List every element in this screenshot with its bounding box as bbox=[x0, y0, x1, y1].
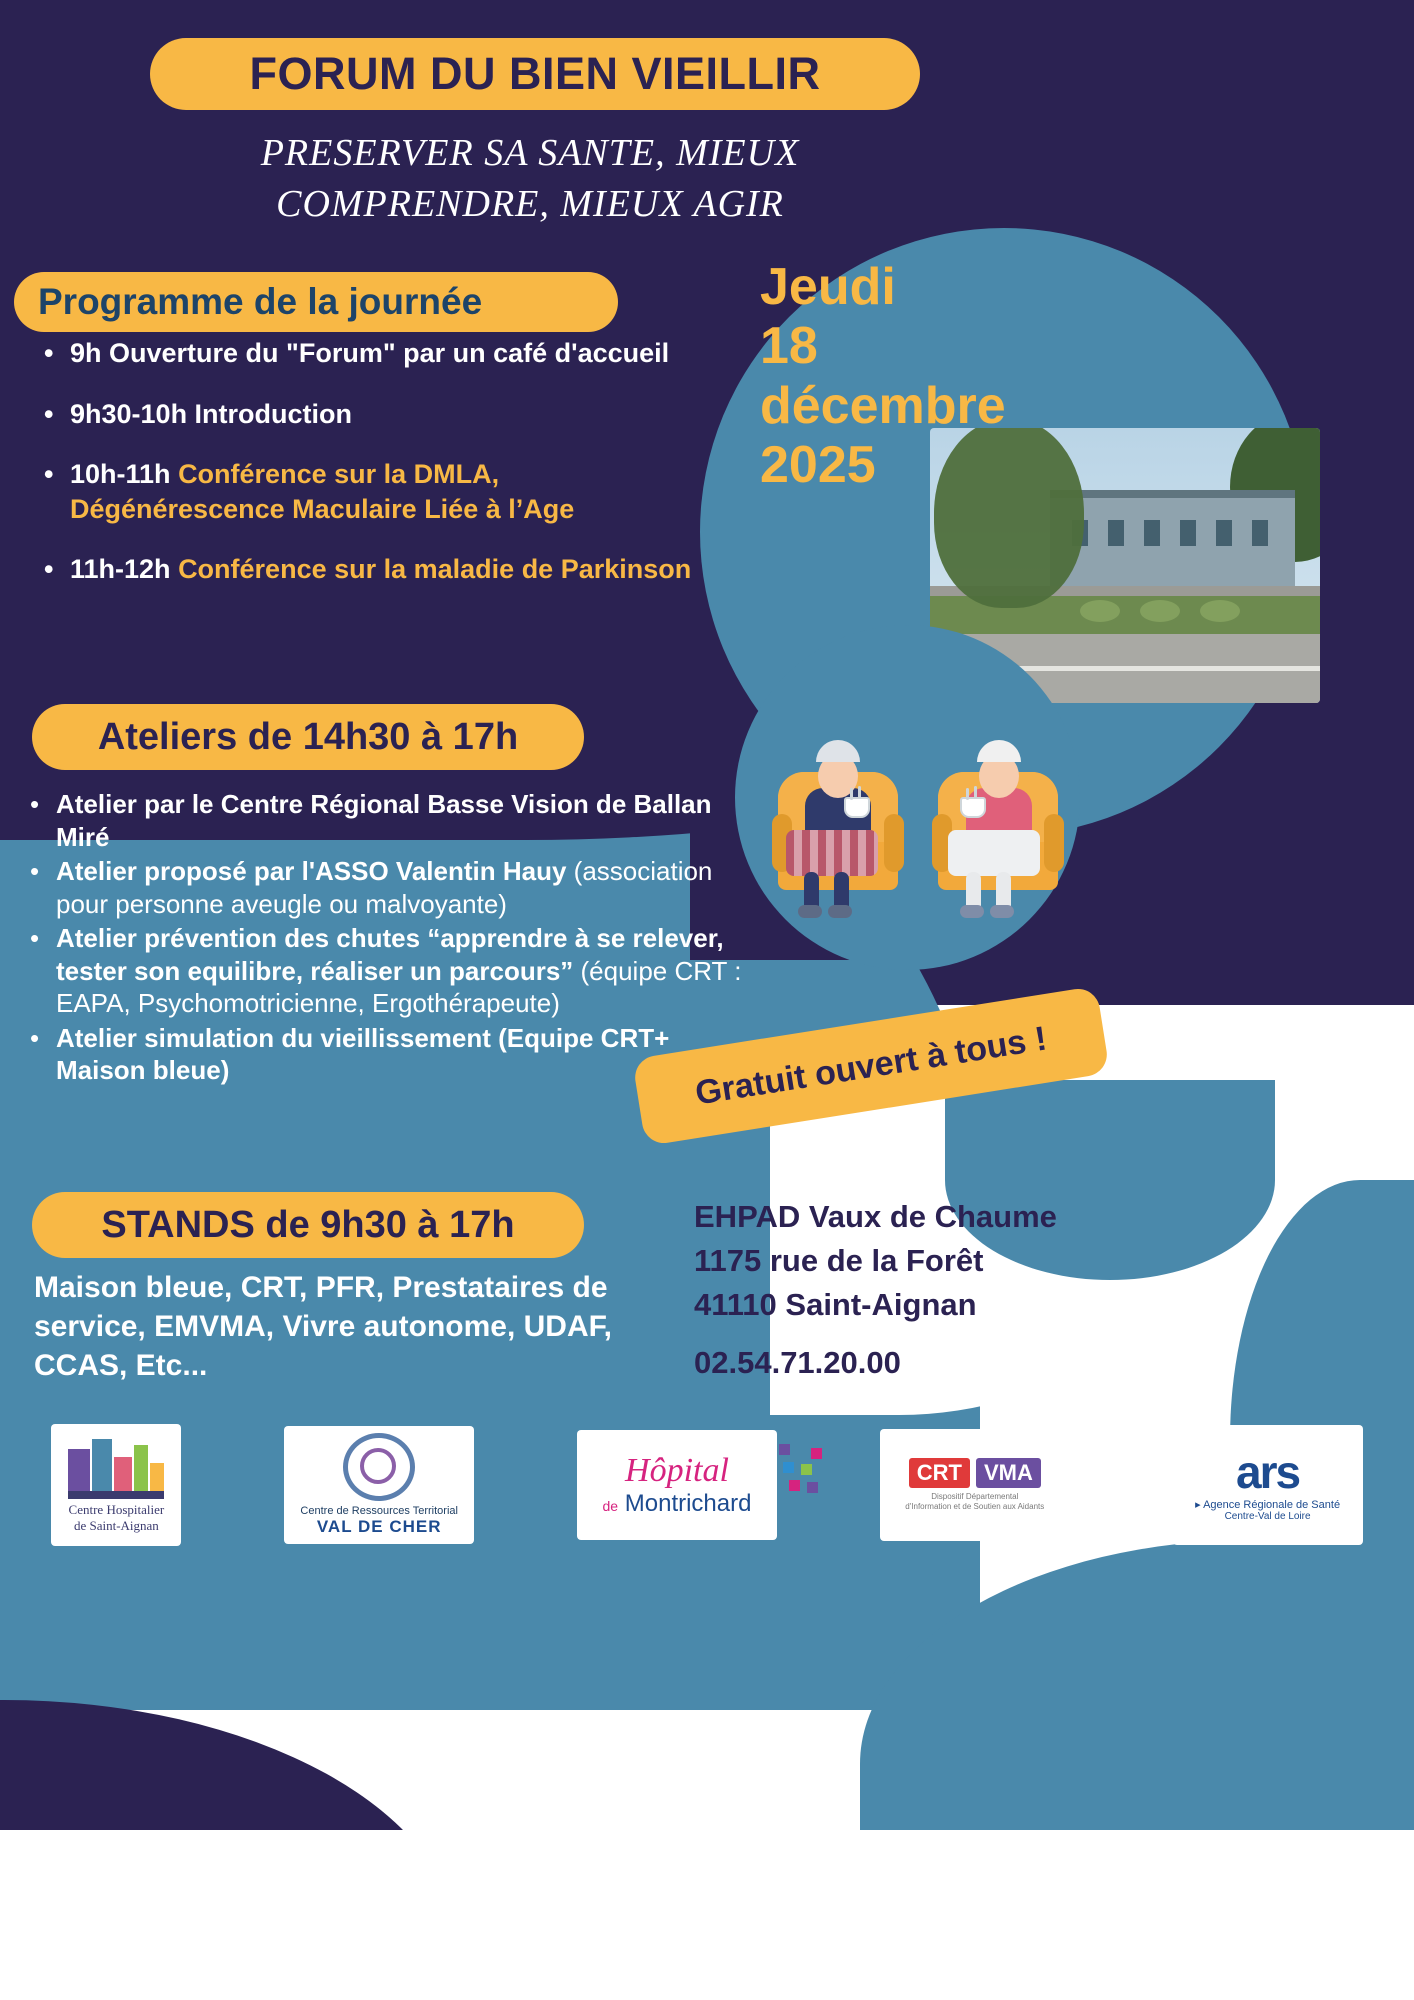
programme-heading: Programme de la journée bbox=[38, 281, 482, 323]
ars-line2: Centre-Val de Loire bbox=[1225, 1511, 1311, 1522]
stands-heading: STANDS de 9h30 à 17h bbox=[101, 1204, 514, 1247]
ars-agency-name: Agence Régionale de Santé bbox=[1203, 1499, 1340, 1511]
ateliers-heading: Ateliers de 14h30 à 17h bbox=[98, 716, 518, 759]
hopital-logo-line1: Hôpital bbox=[625, 1452, 729, 1490]
bullet-icon: • bbox=[30, 1022, 56, 1087]
poster-subtitle-line2: COMPRENDRE, MIEUX AGIR bbox=[120, 179, 940, 230]
bullet-icon: • bbox=[44, 397, 70, 432]
atelier-item-bold: Atelier par le Centre Régional Basse Vis… bbox=[56, 789, 712, 852]
crt-logo-line1: Centre de Ressources Territorial bbox=[300, 1505, 458, 1517]
venue-name: EHPAD Vaux de Chaume bbox=[694, 1195, 1114, 1239]
programme-item-text: 10h-11h Conférence sur la DMLA, Dégénére… bbox=[70, 457, 694, 526]
poster-subtitle: PRESERVER SA SANTE, MIEUX COMPRENDRE, MI… bbox=[120, 128, 940, 231]
atelier-item: • Atelier proposé par l'ASSO Valentin Ha… bbox=[30, 855, 760, 920]
programme-item: • 10h-11h Conférence sur la DMLA, Dégéné… bbox=[44, 457, 694, 526]
crt-logo-line2: VAL DE CHER bbox=[317, 1517, 442, 1537]
bullet-icon: • bbox=[44, 552, 70, 587]
hospital-name-line2: de Saint-Aignan bbox=[69, 1518, 165, 1533]
ateliers-list: • Atelier par le Centre Régional Basse V… bbox=[30, 788, 760, 1089]
crt-vma-subtitle: Dispositif Départemental d'Information e… bbox=[905, 1492, 1044, 1512]
elderly-couple-illustration bbox=[770, 700, 1070, 890]
crt-vma-sub1: Dispositif Départemental bbox=[905, 1492, 1044, 1502]
crt-vma-sub2: d'Information et de Soutien aux Aidants bbox=[905, 1502, 1044, 1512]
venue-city: 41110 Saint-Aignan bbox=[694, 1283, 1114, 1327]
programme-item-detail: Conférence sur la maladie de Parkinson bbox=[178, 554, 691, 584]
programme-item-text: 9h Ouverture du "Forum" par un café d'ac… bbox=[70, 336, 694, 371]
background-white-bottom-strip bbox=[0, 1830, 1414, 2000]
date-weekday: Jeudi bbox=[760, 258, 1060, 317]
ars-name: ars bbox=[1236, 1446, 1299, 1498]
logo-hopital-montrichard: Hôpital de Montrichard bbox=[577, 1430, 777, 1540]
bullet-icon: • bbox=[30, 922, 56, 1020]
atelier-item-text: Atelier prévention des chutes “apprendre… bbox=[56, 922, 760, 1020]
poster-subtitle-line1: PRESERVER SA SANTE, MIEUX bbox=[120, 128, 940, 179]
programme-item-time: 10h-11h bbox=[70, 459, 178, 489]
poster-root: FORUM DU BIEN VIEILLIR PRESERVER SA SANT… bbox=[0, 0, 1414, 2000]
date-month: décembre bbox=[760, 377, 1060, 436]
hospital-logo-mark bbox=[66, 1437, 166, 1499]
programme-list: • 9h Ouverture du "Forum" par un café d'… bbox=[44, 336, 694, 613]
hopital-logo-line2: de Montrichard bbox=[603, 1490, 752, 1518]
hospital-name-line1: Centre Hospitalier bbox=[69, 1502, 165, 1517]
partner-logos: Centre Hospitalier de Saint-Aignan Centr… bbox=[0, 1400, 1414, 1570]
vma-badge: VMA bbox=[976, 1458, 1041, 1488]
venue-street: 1175 rue de la Forêt bbox=[694, 1239, 1114, 1283]
venue-address: EHPAD Vaux de Chaume 1175 rue de la Forê… bbox=[694, 1195, 1114, 1385]
atelier-item: • Atelier par le Centre Régional Basse V… bbox=[30, 788, 760, 853]
hopital-logo-city: Montrichard bbox=[625, 1490, 752, 1517]
programme-item: • 9h Ouverture du "Forum" par un café d'… bbox=[44, 336, 694, 371]
atelier-item-text: Atelier par le Centre Régional Basse Vis… bbox=[56, 788, 760, 853]
stands-heading-pill: STANDS de 9h30 à 17h bbox=[32, 1192, 584, 1258]
programme-item: • 9h30-10h Introduction bbox=[44, 397, 694, 432]
poster-title-pill: FORUM DU BIEN VIEILLIR bbox=[150, 38, 920, 110]
crt-logo-mark bbox=[343, 1433, 415, 1501]
ars-line1: ▸ Agence Régionale de Santé bbox=[1195, 1498, 1340, 1511]
logo-crt-val-de-cher: Centre de Ressources Territorial VAL DE … bbox=[284, 1426, 474, 1544]
date-day: 18 bbox=[760, 317, 1060, 376]
programme-item: • 11h-12h Conférence sur la maladie de P… bbox=[44, 552, 694, 587]
logo-crt-vma: CRT VMA Dispositif Départemental d'Infor… bbox=[880, 1429, 1070, 1541]
atelier-item-bold: Atelier proposé par l'ASSO Valentin Hauy bbox=[56, 856, 566, 886]
crt-vma-marks: CRT VMA bbox=[909, 1458, 1041, 1488]
venue-phone[interactable]: 02.54.71.20.00 bbox=[694, 1341, 1114, 1385]
programme-heading-pill: Programme de la journée bbox=[14, 272, 618, 332]
event-date: Jeudi 18 décembre 2025 bbox=[760, 258, 1060, 495]
hopital-dot-grid-icon bbox=[779, 1444, 831, 1496]
date-year: 2025 bbox=[760, 436, 1060, 495]
poster-title: FORUM DU BIEN VIEILLIR bbox=[250, 48, 821, 100]
programme-item-text: 11h-12h Conférence sur la maladie de Par… bbox=[70, 552, 694, 587]
atelier-item-text: Atelier proposé par l'ASSO Valentin Hauy… bbox=[56, 855, 760, 920]
bullet-icon: • bbox=[44, 336, 70, 371]
programme-item-text: 9h30-10h Introduction bbox=[70, 397, 694, 432]
bullet-icon: • bbox=[30, 788, 56, 853]
ateliers-heading-pill: Ateliers de 14h30 à 17h bbox=[32, 704, 584, 770]
hospital-logo-caption: Centre Hospitalier de Saint-Aignan bbox=[69, 1502, 165, 1533]
hopital-logo-prefix: de bbox=[603, 1498, 619, 1514]
bullet-icon: • bbox=[30, 855, 56, 920]
programme-item-time: 11h-12h bbox=[70, 554, 178, 584]
logo-centre-hospitalier: Centre Hospitalier de Saint-Aignan bbox=[51, 1424, 181, 1546]
ars-wordmark: ars bbox=[1236, 1449, 1299, 1495]
bullet-icon: • bbox=[44, 457, 70, 526]
atelier-item-bold: Atelier simulation du vieillissement (Eq… bbox=[56, 1023, 669, 1086]
stands-body-text: Maison bleue, CRT, PFR, Prestataires de … bbox=[34, 1268, 654, 1385]
logo-ars: ars ▸ Agence Régionale de Santé Centre-V… bbox=[1173, 1425, 1363, 1545]
atelier-item: • Atelier prévention des chutes “apprend… bbox=[30, 922, 760, 1020]
crt-badge: CRT bbox=[909, 1458, 970, 1488]
